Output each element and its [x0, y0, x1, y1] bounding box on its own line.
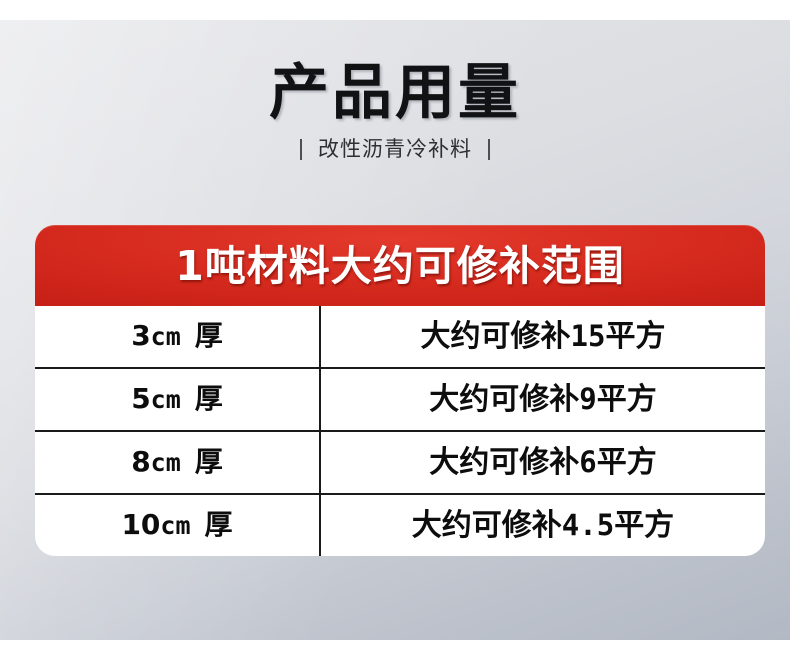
thickness-unit: cm — [151, 322, 181, 351]
thickness-word: 厚 — [195, 319, 223, 352]
coverage-value: 4.5 — [562, 508, 614, 542]
thickness-cell: 3cm厚 — [35, 306, 321, 367]
subtitle-row: 改性沥青冷补料 — [0, 137, 790, 161]
page-subtitle: 改性沥青冷补料 — [318, 137, 472, 161]
page-title: 产品用量 — [0, 58, 790, 128]
thickness-value: 5 — [131, 382, 150, 415]
coverage-suffix: 平方 — [597, 445, 657, 480]
usage-table: 3cm厚 大约可修补15平方 5cm厚 大约 — [35, 306, 765, 556]
thickness-value: 8 — [131, 445, 150, 478]
coverage-label: 大约可修补6平方 — [429, 445, 656, 480]
thickness-word: 厚 — [195, 445, 223, 478]
table-row: 8cm厚 大约可修补6平方 — [35, 432, 765, 495]
coverage-value: 15 — [571, 319, 606, 353]
coverage-prefix: 大约可修补 — [429, 445, 579, 480]
coverage-value: 6 — [579, 445, 596, 479]
table-row: 10cm厚 大约可修补4.5平方 — [35, 495, 765, 556]
coverage-cell: 大约可修补6平方 — [321, 432, 765, 493]
subtitle-right-bar-icon — [488, 139, 490, 160]
subtitle-left-bar-icon — [300, 139, 302, 160]
usage-card: 1吨材料大约可修补范围 3cm厚 大约可修补15平方 — [35, 225, 765, 556]
coverage-suffix: 平方 — [605, 319, 665, 354]
coverage-cell: 大约可修补15平方 — [321, 306, 765, 367]
thickness-unit: cm — [151, 448, 181, 477]
coverage-prefix: 大约可修补 — [412, 508, 562, 543]
thickness-cell: 5cm厚 — [35, 369, 321, 430]
coverage-cell: 大约可修补4.5平方 — [321, 495, 765, 556]
thickness-label: 8cm厚 — [131, 446, 223, 479]
poster-canvas: 产品用量 改性沥青冷补料 1吨材料大约可修补范围 3cm厚 大约可修补15平 — [0, 0, 790, 651]
coverage-label: 大约可修补4.5平方 — [412, 508, 674, 543]
table-row: 5cm厚 大约可修补9平方 — [35, 369, 765, 432]
coverage-label: 大约可修补9平方 — [429, 382, 656, 417]
coverage-value: 9 — [579, 382, 596, 416]
thickness-label: 10cm厚 — [121, 509, 232, 542]
thickness-unit: cm — [160, 511, 190, 540]
coverage-label: 大约可修补15平方 — [421, 319, 666, 354]
thickness-word: 厚 — [205, 508, 233, 541]
coverage-prefix: 大约可修补 — [429, 382, 579, 417]
thickness-cell: 8cm厚 — [35, 432, 321, 493]
thickness-word: 厚 — [195, 382, 223, 415]
banner-title: 1吨材料大约可修补范围 — [175, 243, 625, 289]
coverage-cell: 大约可修补9平方 — [321, 369, 765, 430]
coverage-suffix: 平方 — [597, 382, 657, 417]
thickness-label: 5cm厚 — [131, 383, 223, 416]
thickness-cell: 10cm厚 — [35, 495, 321, 556]
coverage-suffix: 平方 — [614, 508, 674, 543]
coverage-prefix: 大约可修补 — [421, 319, 571, 354]
thickness-label: 3cm厚 — [131, 320, 223, 353]
thickness-value: 3 — [131, 319, 150, 352]
card-banner: 1吨材料大约可修补范围 — [35, 225, 765, 306]
thickness-value: 10 — [121, 508, 160, 541]
thickness-unit: cm — [151, 385, 181, 414]
table-row: 3cm厚 大约可修补15平方 — [35, 306, 765, 369]
heading-block: 产品用量 改性沥青冷补料 — [0, 58, 790, 161]
